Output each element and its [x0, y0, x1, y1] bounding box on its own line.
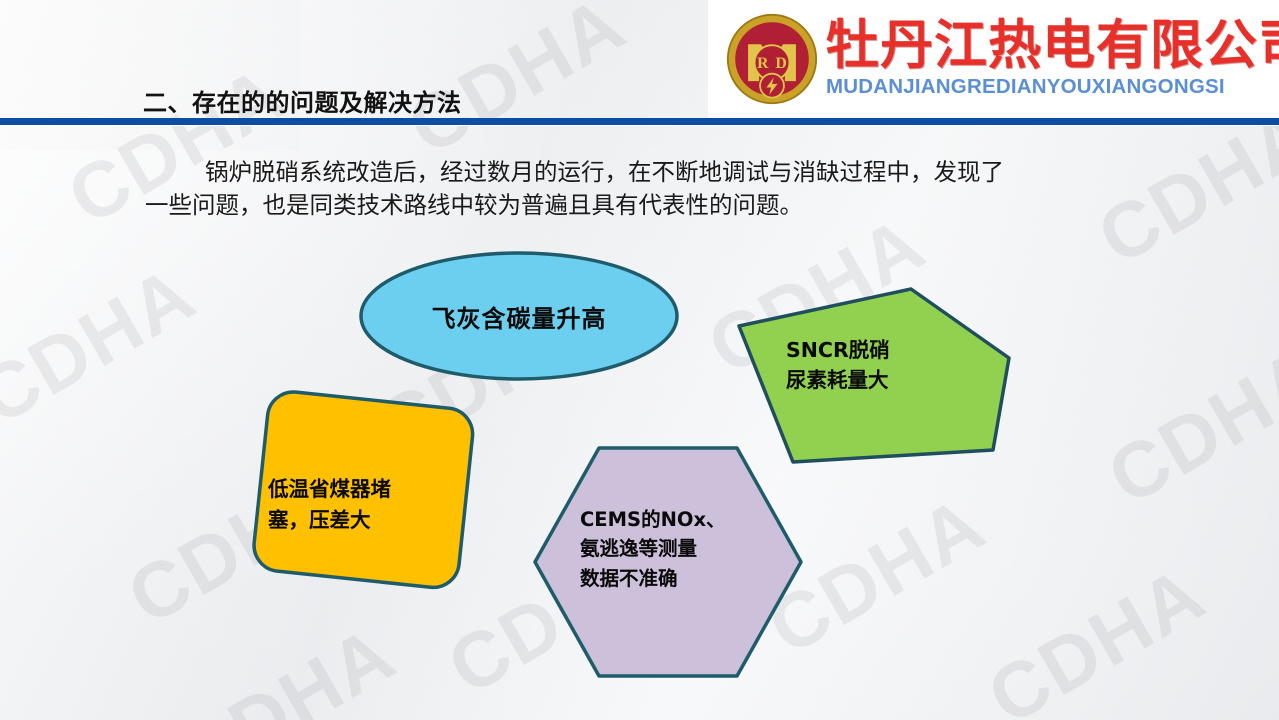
body-paragraph-line-1: 锅炉脱硝系统改造后，经过数月的运行，在不断地调试与消缺过程中，发现了	[145, 156, 1125, 189]
body-paragraph-line-2: 一些问题，也是同类技术路线中较为普遍且具有代表性的问题。	[145, 189, 1125, 222]
company-name-en: MUDANJIANGREDIANYOUXIANGONGSI	[826, 75, 1279, 99]
slide-canvas: CDHA CDHA CDHA CDHA CDHA CDHA CDHA CDHA …	[0, 0, 1279, 720]
shape-label-economizer-blockage: 低温省煤器堵 塞，压差大	[268, 474, 468, 536]
company-name-cn: 牡丹江热电有限公司	[826, 19, 1279, 73]
svg-text:D: D	[776, 55, 787, 72]
body-paragraph: 锅炉脱硝系统改造后，经过数月的运行，在不断地调试与消缺过程中，发现了 一些问题，…	[145, 156, 1125, 223]
company-emblem-icon: R D	[726, 13, 818, 105]
paper-texture	[0, 0, 300, 150]
header-divider	[0, 118, 1279, 125]
shape-label-cems-measurement: CEMS的NOx、 氨逃逸等测量 数据不准确	[580, 505, 800, 593]
page-title: 二、存在的的问题及解决方法	[143, 83, 462, 118]
shape-label-fly-ash-carbon: 飞灰含碳量升高	[358, 250, 680, 382]
company-logo-panel: R D 牡丹江热电有限公司 MUDANJIANGREDIANYOUXIANGON…	[708, 0, 1279, 118]
svg-text:R: R	[757, 55, 769, 72]
watermark-cdha: CDHA	[163, 608, 411, 720]
shape-label-sncr-urea: SNCR脱硝 尿素耗量大	[786, 336, 996, 395]
watermark-cdha: CDHA	[1093, 328, 1279, 523]
watermark-cdha: CDHA	[0, 248, 210, 443]
watermark-cdha: CDHA	[973, 548, 1221, 720]
company-name-block: 牡丹江热电有限公司 MUDANJIANGREDIANYOUXIANGONGSI	[826, 19, 1279, 99]
